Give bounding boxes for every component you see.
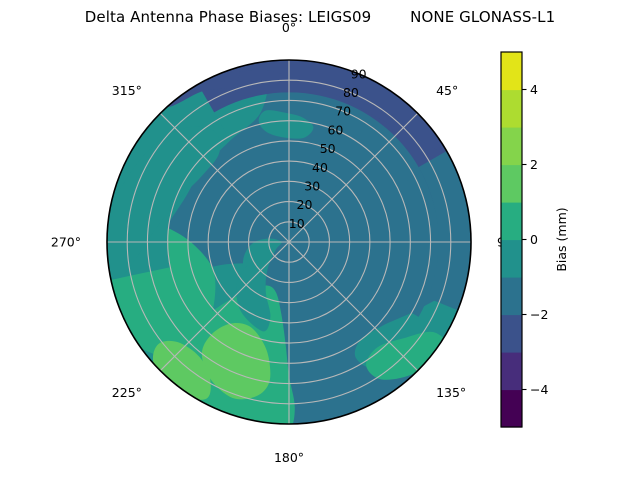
colorbar-band [501,127,522,165]
colorbar-band [501,165,522,203]
colorbar-band [501,352,522,390]
colorbar-ticks: −4−2024 [522,82,548,397]
colorbar-tick-label: 0 [530,232,538,247]
colorbar-tick-label: −2 [530,307,548,322]
colorbar-band [501,277,522,315]
colorbar-band [501,202,522,240]
colorbar-band [501,90,522,128]
colorbar-band [501,315,522,353]
colorbar: −4−2024 Bias (mm) [0,0,640,480]
colorbar-band [501,240,522,278]
colorbar-bands [501,52,522,428]
colorbar-axis-label: Bias (mm) [554,207,569,271]
colorbar-band [501,52,522,90]
colorbar-band [501,390,522,428]
colorbar-tick-label: −4 [530,382,548,397]
colorbar-tick-label: 2 [530,157,538,172]
colorbar-tick-label: 4 [530,82,538,97]
figure-canvas: Delta Antenna Phase Biases: LEIGS09 NONE… [0,0,640,480]
